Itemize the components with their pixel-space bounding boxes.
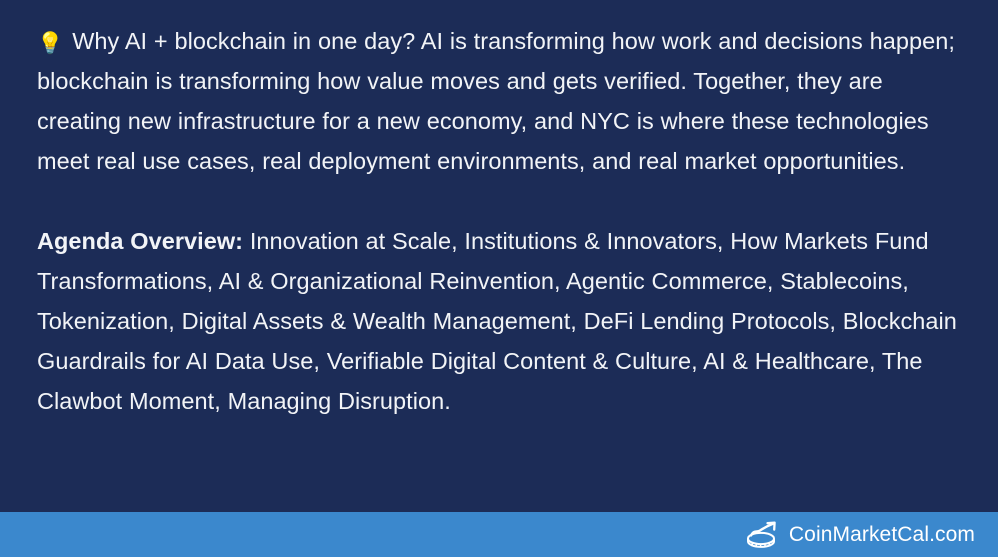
agenda-overview-text: Innovation at Scale, Institutions & Inno… [37,228,957,414]
paragraph-agenda-overview: Agenda Overview: Innovation at Scale, In… [37,221,971,421]
agenda-overview-label: Agenda Overview: [37,228,243,254]
brand-logo[interactable]: CoinMarketCal.com [746,521,975,548]
footer-bar: CoinMarketCal.com [0,512,998,557]
brand-name-label: CoinMarketCal.com [789,524,975,545]
event-description-card: 💡Why AI + blockchain in one day? AI is t… [0,0,998,557]
paragraph-why-ai-blockchain: 💡Why AI + blockchain in one day? AI is t… [37,21,971,181]
coin-trending-up-icon [746,521,780,548]
paragraph-why-ai-blockchain-text: Why AI + blockchain in one day? AI is tr… [37,28,955,174]
description-content: 💡Why AI + blockchain in one day? AI is t… [37,21,971,421]
light-bulb-icon: 💡 [37,33,63,54]
